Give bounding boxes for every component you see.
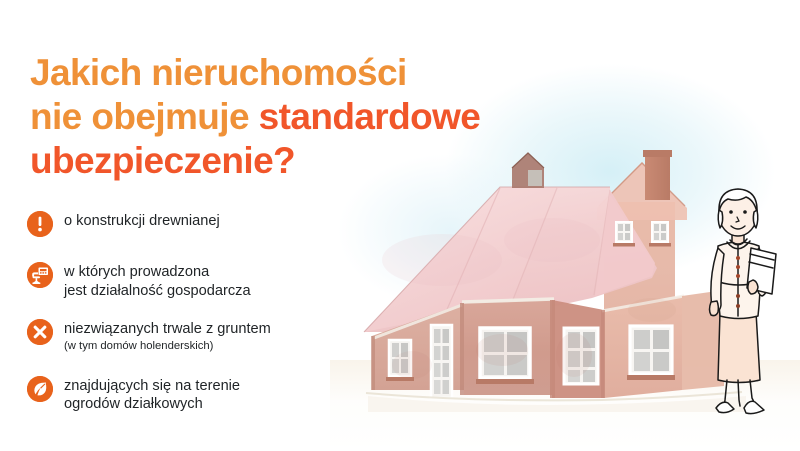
businesswoman-illustration [694,184,798,424]
list-item-text: w których prowadzona jest działalność go… [64,261,251,300]
office-desk-icon [27,262,53,288]
headline-line-2: nie obejmuje standardowe [30,95,670,139]
infographic-canvas: Jakich nieruchomości nie obejmuje standa… [0,0,800,451]
list-item: o konstrukcji drewnianej [27,210,372,237]
list-item-line-1: w których prowadzona [64,263,251,282]
headline-line-3-text: ubezpieczenie? [30,140,295,181]
list-item: niezwiązanych trwale z gruntem (w tym do… [27,318,372,353]
list-item-text: niezwiązanych trwale z gruntem (w tym do… [64,318,271,353]
exclusion-list: o konstrukcji drewnianej [27,210,372,414]
headline-line-1-text: Jakich nieruchomości [30,52,407,93]
list-item-line-2: ogrodów działkowych [64,395,240,414]
headline-line-2b-text: standardowe [259,96,481,137]
cross-icon [27,319,53,345]
headline-line-1: Jakich nieruchomości [30,51,670,95]
list-item: znajdujących się na terenie ogrodów dzia… [27,375,372,414]
watercolor-house-illustration [352,150,752,435]
list-item-subtext: (w tym domów holenderskich) [64,339,271,353]
list-item-line-1: niezwiązanych trwale z gruntem [64,320,271,339]
list-item-text: znajdujących się na terenie ogrodów dzia… [64,375,240,414]
headline-line-3: ubezpieczenie? [30,139,670,183]
page-title: Jakich nieruchomości nie obejmuje standa… [30,51,670,183]
exclamation-icon [27,211,53,237]
list-item-line-2: jest działalność gospodarcza [64,282,251,301]
list-item-line-1: o konstrukcji drewnianej [64,213,220,229]
ground-background-wash [330,360,800,451]
leaf-icon [27,376,53,402]
list-item: w których prowadzona jest działalność go… [27,261,372,300]
list-item-line-1: znajdujących się na terenie [64,377,240,396]
headline-line-2a-text: nie obejmuje [30,96,259,137]
list-item-text: o konstrukcji drewnianej [64,210,220,231]
